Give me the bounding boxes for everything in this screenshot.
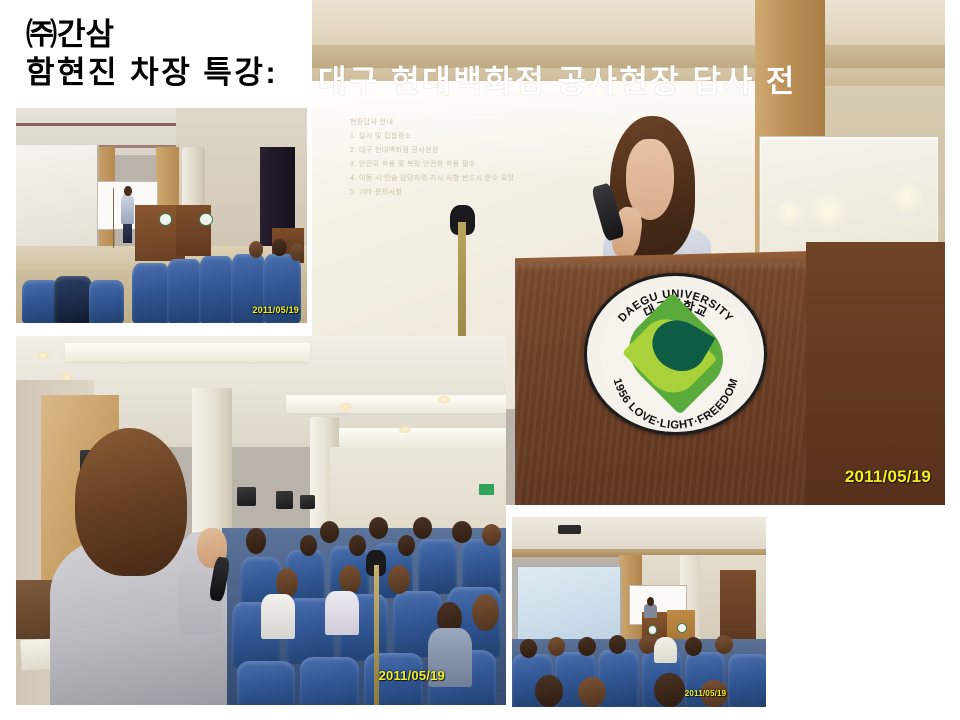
photo-timestamp: 2011/05/19 <box>252 305 299 315</box>
photo-timestamp: 2011/05/19 <box>685 689 727 698</box>
upper-wall <box>312 0 945 86</box>
mic-stand-pole <box>374 565 379 705</box>
audience-head <box>300 535 317 555</box>
podium-emblem <box>199 213 213 226</box>
ceiling-projector <box>558 525 581 535</box>
speaker-hair <box>75 428 188 576</box>
speaker-head <box>124 186 132 196</box>
audience-head <box>715 635 733 654</box>
audience-head <box>452 521 472 543</box>
rear-audience-photo: 2011/05/19 <box>512 517 766 707</box>
seat <box>199 256 234 323</box>
hall-photo-scene: 2011/05/19 <box>16 108 307 323</box>
photo-timestamp: 2011/05/19 <box>379 668 445 683</box>
audience-head-scarf <box>654 637 677 664</box>
university-emblem: 대구대학교 DAEGU UNIVERSITY 1956 LOVE·LIGHT·F… <box>584 273 767 436</box>
audience-head <box>246 528 266 554</box>
projection-screen <box>517 566 621 644</box>
audience-head <box>369 517 389 539</box>
audience-head <box>349 535 366 555</box>
audience-head <box>272 239 287 256</box>
audience-torso <box>325 591 359 635</box>
wall-speaker <box>276 491 293 509</box>
audience-head <box>472 594 499 631</box>
hall-wide-photo: 2011/05/19 <box>16 108 307 323</box>
lecture-title: 함현진 차장 특강: <box>26 56 278 91</box>
mic-stand <box>113 188 114 248</box>
audience-head <box>520 639 538 658</box>
audience-head <box>578 637 596 656</box>
seat <box>54 276 92 323</box>
ceiling-light-strip <box>65 343 310 361</box>
audience-head <box>398 535 415 555</box>
company-name: ㈜간삼 <box>26 18 278 53</box>
wall-speaker <box>300 495 315 510</box>
wall-speaker <box>237 487 257 505</box>
seat <box>418 539 457 594</box>
audience-torso <box>261 594 295 638</box>
photo-timestamp: 2011/05/19 <box>845 467 931 487</box>
speaker-torso <box>644 604 657 617</box>
seat <box>462 539 501 594</box>
ceiling-light-strip <box>320 428 506 446</box>
seat <box>167 259 202 324</box>
audience-photo-scene: 2011/05/19 <box>16 336 506 705</box>
audience-head <box>685 637 703 656</box>
audience-head <box>654 673 684 707</box>
audience-head <box>320 521 340 543</box>
speaker-legs <box>123 222 132 244</box>
seat <box>89 280 124 323</box>
seat <box>132 263 170 323</box>
audience-view-photo: 2011/05/19 <box>16 336 506 705</box>
slide-canvas: 현장답사 안내 1. 일시 및 집합장소 2. 대구 현대백화점 공사현장 3.… <box>0 0 960 720</box>
audience-head <box>548 637 566 656</box>
rear-photo-scene: 2011/05/19 <box>512 517 766 707</box>
seat <box>300 657 359 705</box>
wall-band <box>312 45 945 68</box>
downlight <box>36 351 50 360</box>
audience-head <box>290 243 305 260</box>
exit-sign <box>479 484 494 495</box>
whiteboard-glare <box>810 191 845 231</box>
slide-title-block: ㈜간삼 함현진 차장 특강: <box>26 18 278 90</box>
whiteboard-glare <box>775 197 803 228</box>
audience-head <box>535 675 563 707</box>
speaker-torso <box>121 194 134 224</box>
whiteboard-glare <box>892 180 924 214</box>
audience-head <box>609 635 627 654</box>
podium-side <box>806 242 945 505</box>
ceiling-light-strip <box>286 395 507 413</box>
downlight <box>398 425 412 434</box>
seat <box>728 654 766 707</box>
podium-emblem <box>677 623 687 633</box>
audience-head <box>578 677 606 707</box>
projection-screen <box>16 145 99 248</box>
seat <box>237 661 296 705</box>
